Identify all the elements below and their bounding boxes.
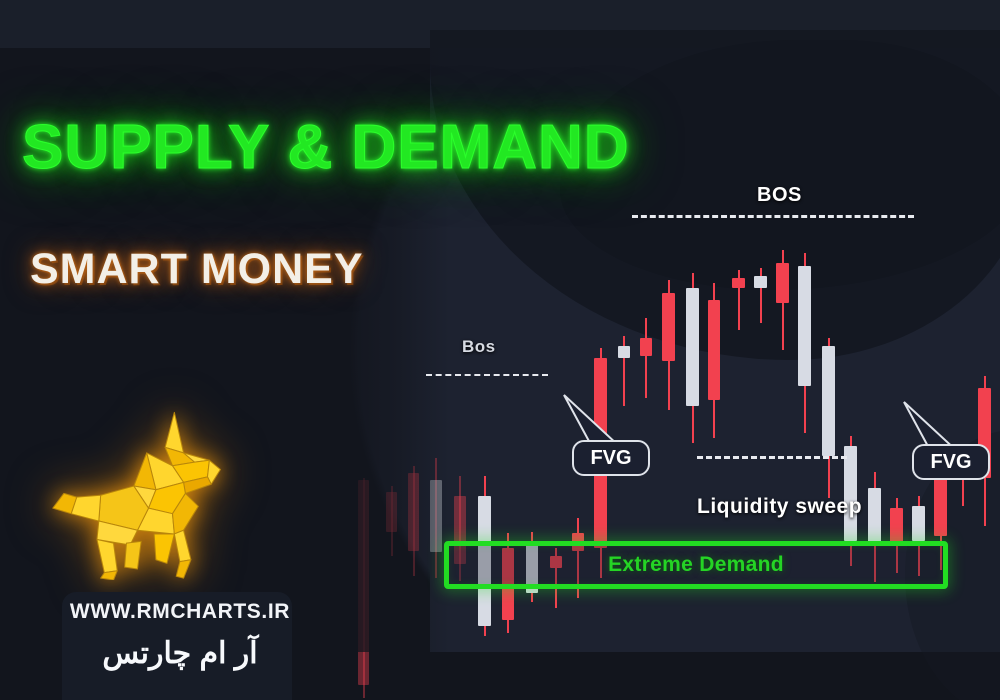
- candle-body: [686, 288, 699, 406]
- liquidity-sweep-label: Liquidity sweep: [697, 495, 862, 519]
- candle-body: [776, 263, 789, 303]
- candle-body: [798, 266, 811, 386]
- brand-name-fa: آر ام چارتس: [60, 636, 300, 671]
- fvg-1-callout[interactable]: FVG: [572, 440, 650, 476]
- candle-body: [430, 480, 442, 552]
- bos-1-label: Bos: [462, 337, 496, 357]
- candle-body: [890, 508, 903, 543]
- unicorn-icon: [45, 405, 230, 580]
- candle-body: [662, 293, 675, 361]
- bos-2-label: BOS: [757, 184, 802, 207]
- page-subtitle: SMART MONEY: [30, 245, 364, 294]
- page-title: SUPPLY & DEMAND: [22, 112, 682, 183]
- candle-body: [732, 278, 745, 288]
- candle-body: [386, 492, 397, 532]
- candle-wick: [645, 318, 647, 398]
- fvg-2-callout[interactable]: FVG: [912, 444, 990, 480]
- candle-body: [822, 346, 835, 456]
- extreme-demand-zone[interactable]: Extreme Demand: [444, 541, 948, 589]
- candle-body: [934, 478, 947, 536]
- extreme-demand-label: Extreme Demand: [608, 553, 784, 577]
- liquidity-sweep-level: [697, 456, 847, 459]
- candle-body: [912, 506, 925, 541]
- candle-body: [754, 276, 767, 288]
- candle-body: [640, 338, 652, 356]
- bos-2-level: [632, 215, 914, 218]
- poster-canvas: Bos BOS Liquidity sweep FVG FVG Extreme …: [0, 0, 1000, 700]
- candle-body: [868, 488, 881, 543]
- fvg-2-label: FVG: [930, 451, 971, 474]
- website-url[interactable]: WWW.RMCHARTS.IR: [60, 600, 300, 624]
- fvg-1-label: FVG: [590, 447, 631, 470]
- bos-1-level: [426, 374, 548, 376]
- candle-body: [618, 346, 630, 358]
- candle-body: [844, 446, 857, 541]
- candle-body: [408, 473, 419, 551]
- candle-body: [358, 480, 369, 685]
- candle-body: [708, 300, 720, 400]
